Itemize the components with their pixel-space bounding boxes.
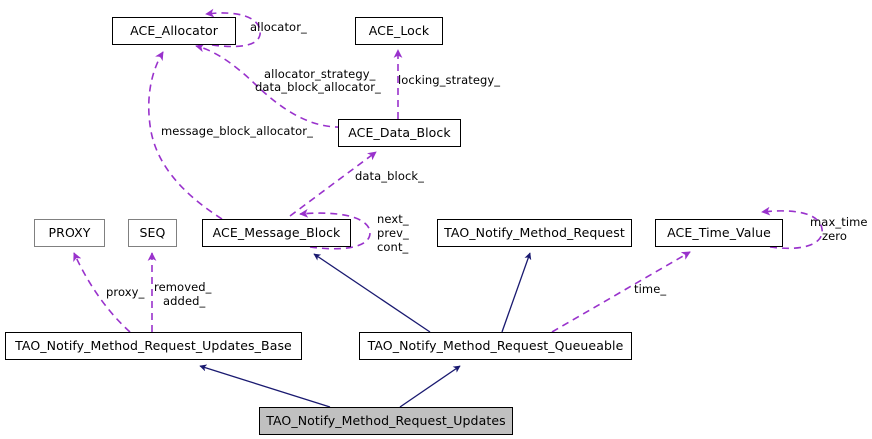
edge-label-added: added_ [163,295,205,308]
collaboration-diagram: ACE_Allocator ACE_Lock ACE_Data_Block PR… [0,0,872,439]
edge-label-cont: cont_ [377,241,408,254]
class-node-tao-notify-method-request-queueable[interactable]: TAO_Notify_Method_Request_Queueable [359,332,632,360]
edge-label-zero: zero [822,230,847,243]
edge-label-message-block-allocator: message_block_allocator_ [161,125,313,138]
edge-label-prev: prev_ [377,227,409,240]
class-node-label: ACE_Allocator [130,25,218,38]
class-node-label: ACE_Time_Value [667,227,771,240]
class-node-label: ACE_Data_Block [348,127,451,140]
class-node-tao-notify-method-request[interactable]: TAO_Notify_Method_Request [437,219,632,247]
edge-inherit-queueable-message-block [314,254,430,332]
class-node-label: TAO_Notify_Method_Request_Updates [266,415,506,428]
edge-label-proxy: proxy_ [106,286,144,299]
class-node-ace-data-block[interactable]: ACE_Data_Block [338,119,461,147]
class-node-tao-notify-method-request-updates-base[interactable]: TAO_Notify_Method_Request_Updates_Base [5,332,302,360]
class-node-proxy[interactable]: PROXY [34,219,105,247]
class-node-label: TAO_Notify_Method_Request_Queueable [368,340,624,353]
edge-label-time: time_ [634,283,666,296]
class-node-label: PROXY [49,227,91,240]
class-node-ace-message-block[interactable]: ACE_Message_Block [202,219,351,247]
edge-label-data-block: data_block_ [355,170,424,183]
class-node-label: ACE_Lock [369,25,430,38]
class-node-ace-allocator[interactable]: ACE_Allocator [112,17,236,45]
class-node-seq[interactable]: SEQ [128,219,177,247]
edge-inherit-updates-queueable [400,366,460,407]
edge-time [552,252,690,332]
edge-label-allocator-strategy: allocator_strategy_ [264,68,375,81]
edge-label-max-time: max_time [810,216,868,229]
class-node-tao-notify-method-request-updates[interactable]: TAO_Notify_Method_Request_Updates [259,407,513,435]
edge-inherit-updates-base [200,366,330,407]
edge-label-locking-strategy: locking_strategy_ [398,74,500,87]
edge-label-next: next_ [377,213,409,226]
edge-inherit-queueable-method-request [502,253,530,332]
edge-label-allocator: allocator_ [250,21,307,34]
class-node-label: ACE_Message_Block [213,227,341,240]
class-node-label: TAO_Notify_Method_Request [444,227,625,240]
class-node-label: TAO_Notify_Method_Request_Updates_Base [15,340,292,353]
class-node-ace-lock[interactable]: ACE_Lock [355,17,443,45]
edge-label-data-block-allocator: data_block_allocator_ [255,81,381,94]
edge-label-removed: removed_ [154,281,212,294]
class-node-label: SEQ [140,227,166,240]
edge-data-block [290,152,376,216]
class-node-ace-time-value[interactable]: ACE_Time_Value [655,219,783,247]
